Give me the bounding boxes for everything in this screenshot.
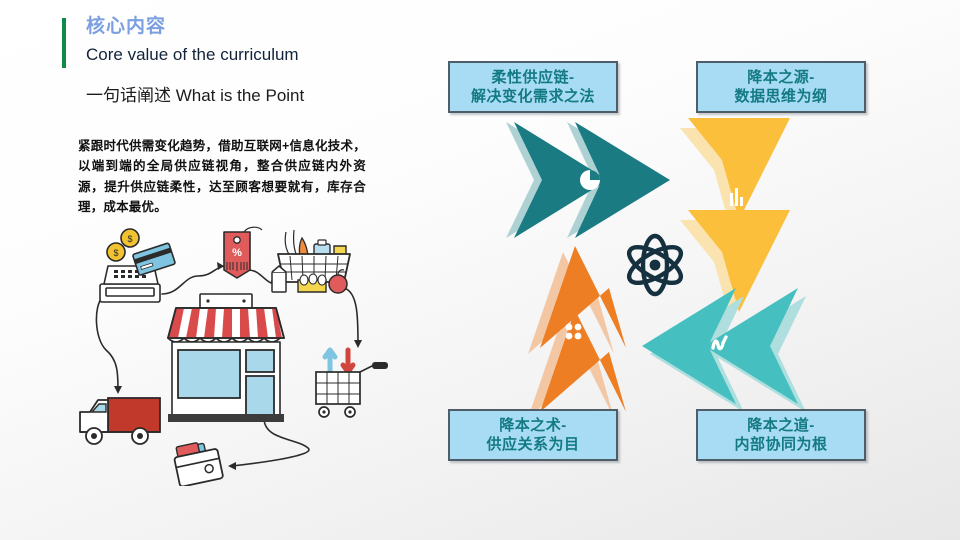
label-bl-line2: 供应关系为目 <box>486 435 579 454</box>
green-accent-bar <box>62 18 66 68</box>
credit-card-icon <box>133 243 176 276</box>
price-tag-icon: % <box>224 227 262 278</box>
label-tl-line1: 柔性供应链- <box>471 68 595 87</box>
label-br-line1: 降本之道- <box>734 416 827 435</box>
four-quadrant-arrow-diagram: 柔性供应链- 解决变化需求之法 降本之源- 数据思维为纲 降本之术- 供应关系为… <box>430 40 950 485</box>
svg-text:$: $ <box>113 248 118 258</box>
delivery-truck-icon <box>80 398 160 444</box>
page-title-chinese: 核心内容 <box>86 16 166 39</box>
grocery-basket-icon <box>272 230 350 293</box>
label-box-bottom-right[interactable]: 降本之道- 内部协同为根 <box>696 409 866 461</box>
storefront-icon <box>168 294 284 422</box>
page-title-english: Core value of the curriculum <box>86 44 299 66</box>
label-tr-line2: 数据思维为纲 <box>734 87 827 106</box>
arrow-bottom-left <box>528 246 626 418</box>
wallet-icon <box>172 439 223 486</box>
pie-chart-icon <box>580 170 600 190</box>
body-paragraph: 紧跟时代供需变化趋势，借助互联网+信息化技术，以端到端的全局供应链视角，整合供应… <box>78 136 366 217</box>
arrow-top-left <box>506 122 670 238</box>
page-subheading: 一句话阐述 What is the Point <box>86 85 304 107</box>
arrow-top-right <box>680 118 790 322</box>
label-tr-line1: 降本之源- <box>734 68 827 87</box>
arrow-bottom-right <box>642 288 806 412</box>
retail-supply-chain-illustration: .ln { fill:none; stroke:#2b2b2b; stroke-… <box>72 226 402 486</box>
shopping-cart-icon <box>316 350 388 417</box>
atom-icon <box>622 232 688 298</box>
label-box-bottom-left[interactable]: 降本之术- 供应关系为目 <box>448 409 618 461</box>
label-box-top-right[interactable]: 降本之源- 数据思维为纲 <box>696 61 866 113</box>
label-tl-line2: 解决变化需求之法 <box>471 87 595 106</box>
slide-canvas: 核心内容 Core value of the curriculum 一句话阐述 … <box>0 0 960 540</box>
label-box-top-left[interactable]: 柔性供应链- 解决变化需求之法 <box>448 61 618 113</box>
label-br-line2: 内部协同为根 <box>734 435 827 454</box>
svg-text:$: $ <box>127 234 132 244</box>
svg-text:%: % <box>232 247 242 259</box>
label-bl-line1: 降本之术- <box>486 416 579 435</box>
